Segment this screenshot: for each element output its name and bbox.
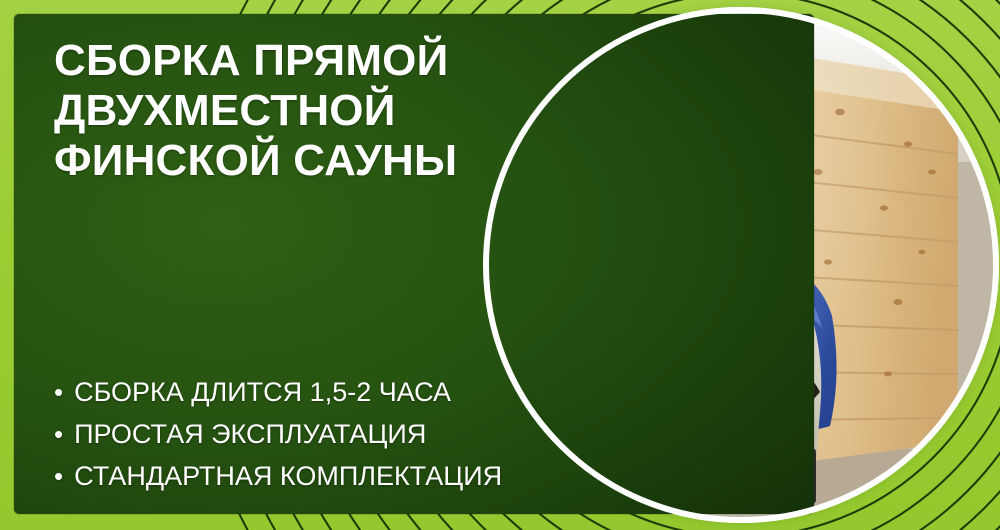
list-item: • СТАНДАРТНАЯ КОМПЛЕКТАЦИЯ (54, 456, 574, 498)
headline-line-2: ДВУХМЕСТНОЙ (54, 86, 524, 136)
list-item: • ПРОСТАЯ ЭКСПЛУАТАЦИЯ (54, 414, 574, 456)
list-item-label: СТАНДАРТНАЯ КОМПЛЕКТАЦИЯ (74, 456, 502, 498)
text-panel: СБОРКА ПРЯМОЙ ДВУХМЕСТНОЙ ФИНСКОЙ САУНЫ … (14, 14, 814, 514)
headline-line-1: СБОРКА ПРЯМОЙ (54, 36, 524, 86)
list-item-label: ПРОСТАЯ ЭКСПЛУАТАЦИЯ (74, 414, 426, 456)
bullet-dot-icon: • (54, 463, 63, 489)
page-title: СБОРКА ПРЯМОЙ ДВУХМЕСТНОЙ ФИНСКОЙ САУНЫ (54, 36, 524, 186)
list-item-label: СБОРКА ДЛИТСЯ 1,5-2 ЧАСА (74, 372, 451, 414)
bullet-dot-icon: • (54, 421, 63, 447)
headline-line-3: ФИНСКОЙ САУНЫ (54, 136, 524, 186)
bullet-dot-icon: • (54, 379, 63, 405)
feature-list: • СБОРКА ДЛИТСЯ 1,5-2 ЧАСА • ПРОСТАЯ ЭКС… (54, 372, 574, 498)
promo-banner: СБОРКА ПРЯМОЙ ДВУХМЕСТНОЙ ФИНСКОЙ САУНЫ … (0, 0, 1000, 530)
list-item: • СБОРКА ДЛИТСЯ 1,5-2 ЧАСА (54, 372, 574, 414)
